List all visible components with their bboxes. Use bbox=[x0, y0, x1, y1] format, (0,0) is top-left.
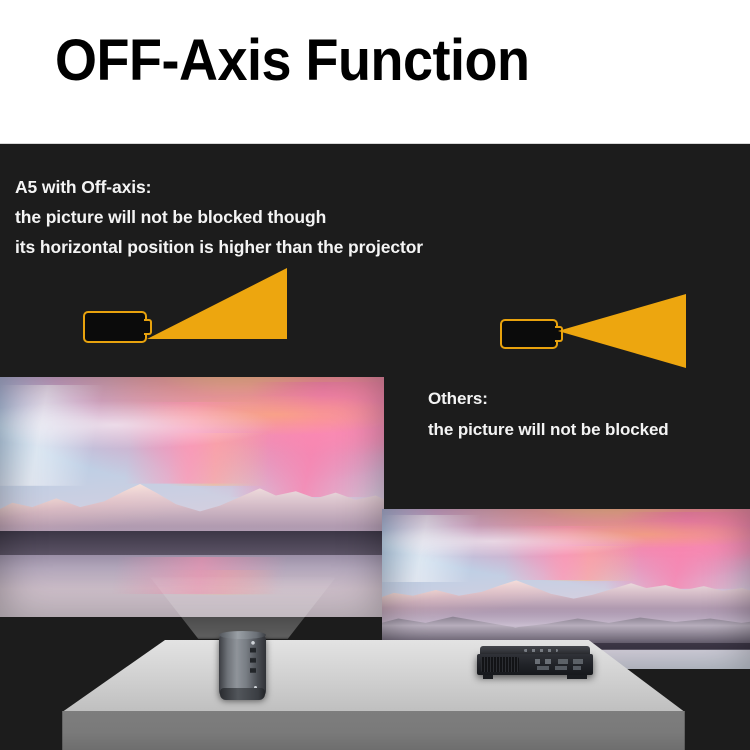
on-axis-beam-diagram bbox=[500, 300, 685, 370]
page-title: OFF-Axis Function bbox=[55, 29, 530, 93]
product-feature-slide: OFF-Axis Function A5 with Off-axis: the … bbox=[0, 0, 750, 750]
on-axis-beam bbox=[558, 294, 686, 368]
right-copy-line-2: the picture will not be blocked bbox=[428, 414, 669, 445]
projector-control-strip bbox=[250, 641, 256, 687]
title-band: OFF-Axis Function bbox=[0, 0, 750, 143]
right-copy-block: Others: the picture will not be blocked bbox=[428, 383, 669, 445]
table-surface bbox=[0, 640, 750, 750]
projector-icon bbox=[500, 319, 558, 349]
projector-base bbox=[220, 688, 265, 700]
off-axis-beam bbox=[147, 268, 287, 339]
table-front bbox=[0, 711, 750, 750]
projector-feet bbox=[483, 675, 587, 679]
left-copy-heading: A5 with Off-axis: bbox=[15, 172, 423, 202]
right-copy-heading: Others: bbox=[428, 383, 669, 414]
left-copy-line-2: the picture will not be blocked though bbox=[15, 202, 423, 232]
table-top bbox=[0, 640, 750, 712]
projector-icon bbox=[83, 311, 147, 343]
box-projector bbox=[477, 646, 593, 679]
left-copy-block: A5 with Off-axis: the picture will not b… bbox=[15, 172, 423, 262]
projector-top-cap bbox=[219, 631, 266, 639]
left-copy-line-3: its horizontal position is higher than t… bbox=[15, 232, 423, 262]
cylindrical-projector bbox=[219, 634, 266, 698]
projector-port-panel bbox=[535, 658, 587, 671]
off-axis-beam-diagram bbox=[75, 268, 290, 353]
projector-vent-grille bbox=[481, 657, 519, 672]
